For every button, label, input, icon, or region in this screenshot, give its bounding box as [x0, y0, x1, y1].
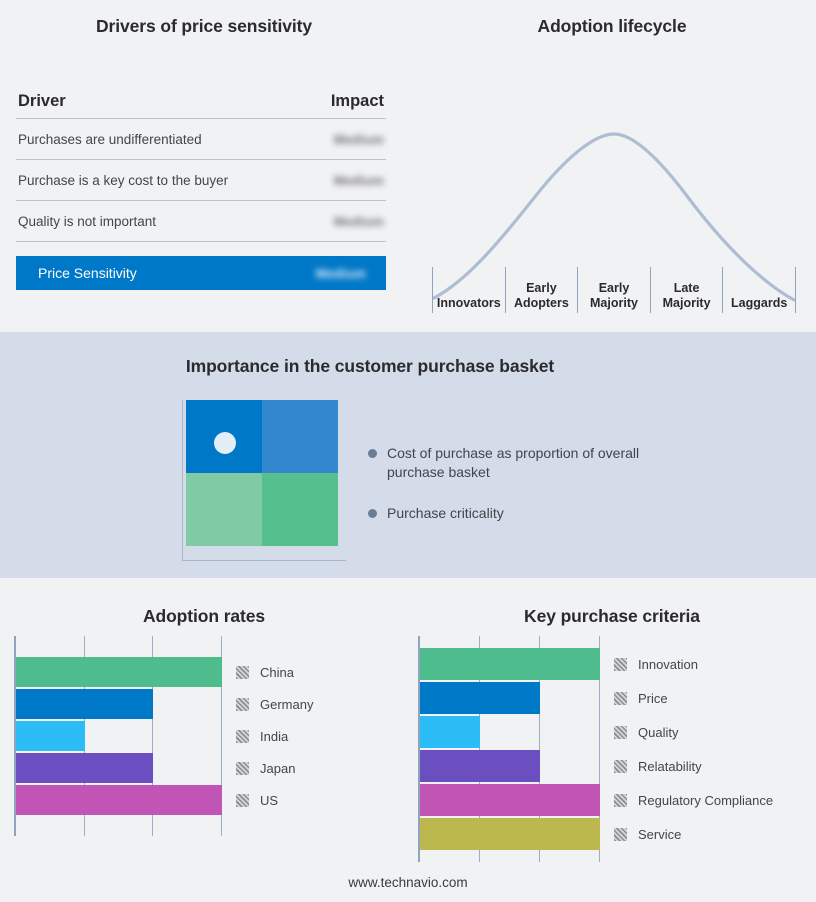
- key-purchase-criteria-chart: InnovationPriceQualityRelatabilityRegula…: [418, 636, 812, 862]
- legend-label: Service: [638, 827, 681, 842]
- key-purchase-criteria-legend: InnovationPriceQualityRelatabilityRegula…: [614, 636, 773, 862]
- importance-legend-label: Cost of purchase as proportion of overal…: [387, 444, 647, 482]
- bar: [16, 721, 85, 751]
- lifecycle-stage-label: Majority: [663, 296, 711, 311]
- lifecycle-stage-label: Early: [599, 281, 630, 296]
- quadrant-cell-bottom-right: [262, 473, 338, 546]
- purchase-basket-quadrant-chart: [178, 400, 356, 574]
- bar-row: [16, 785, 222, 815]
- quadrant-y-axis: [182, 400, 183, 560]
- hatched-swatch-icon: [614, 726, 627, 739]
- bar-group: [420, 636, 600, 862]
- importance-legend-label: Purchase criticality: [387, 504, 504, 523]
- adoption-rates-legend: ChinaGermanyIndiaJapanUS: [236, 636, 313, 836]
- lifecycle-stage-label: Innovators: [437, 296, 501, 311]
- driver-label: Purchases are undifferentiated: [18, 132, 202, 147]
- legend-label: Germany: [260, 697, 313, 712]
- table-row-highlighted-price-sensitivity: Price Sensitivity Medium: [16, 256, 386, 290]
- list-item: China: [236, 657, 313, 687]
- bar-group: [16, 636, 222, 836]
- lifecycle-stage-label: Adopters: [514, 296, 569, 311]
- adoption-rates-title: Adoption rates: [0, 606, 408, 627]
- adoption-rates-panel: Adoption rates ChinaGermanyIndiaJapanUS: [0, 578, 408, 902]
- lifecycle-stage-innovators: Innovators: [432, 267, 505, 313]
- impact-value: Medium: [334, 214, 384, 229]
- bar-row: [16, 689, 222, 719]
- column-header-driver: Driver: [18, 92, 66, 111]
- importance-purchase-basket-panel: Importance in the customer purchase bask…: [0, 332, 816, 578]
- quadrant-cell-top-right: [262, 400, 338, 473]
- table-row: Purchases are undifferentiated Medium: [16, 119, 386, 160]
- bar-row: [16, 753, 222, 783]
- quadrant-x-axis: [182, 560, 346, 561]
- drivers-table: Driver Impact Purchases are undifferenti…: [16, 92, 386, 290]
- importance-legend: Cost of purchase as proportion of overal…: [368, 444, 668, 545]
- legend-label: US: [260, 793, 278, 808]
- bar: [420, 818, 600, 850]
- lifecycle-stage-labels: Innovators Early Adopters Early Majority…: [432, 267, 796, 313]
- list-item: Regulatory Compliance: [614, 784, 773, 816]
- lifecycle-stage-label: Early: [526, 281, 557, 296]
- criteria-plot-area: [418, 636, 600, 862]
- lifecycle-panel-title: Adoption lifecycle: [408, 16, 816, 37]
- driver-label: Purchase is a key cost to the buyer: [18, 173, 228, 188]
- bar: [420, 648, 600, 680]
- bar: [420, 750, 540, 782]
- list-item: Price: [614, 682, 773, 714]
- legend-label: India: [260, 729, 288, 744]
- list-item: Purchase criticality: [368, 504, 668, 523]
- adoption-rates-chart: ChinaGermanyIndiaJapanUS: [14, 636, 394, 836]
- bar: [420, 682, 540, 714]
- hatched-swatch-icon: [236, 730, 249, 743]
- adoption-lifecycle-panel: Adoption lifecycle Innovators Early Adop…: [408, 0, 816, 332]
- legend-label: Quality: [638, 725, 678, 740]
- lifecycle-stage-early-adopters: Early Adopters: [505, 267, 578, 313]
- adoption-lifecycle-chart: Innovators Early Adopters Early Majority…: [432, 78, 796, 313]
- drivers-table-header: Driver Impact: [16, 92, 386, 119]
- legend-label: Japan: [260, 761, 295, 776]
- impact-value: Medium: [334, 173, 384, 188]
- legend-label: Relatability: [638, 759, 702, 774]
- key-purchase-criteria-title: Key purchase criteria: [408, 606, 816, 627]
- quadrant-grid: [186, 400, 338, 546]
- legend-label: Price: [638, 691, 668, 706]
- hatched-swatch-icon: [614, 828, 627, 841]
- drivers-panel-title: Drivers of price sensitivity: [0, 16, 408, 37]
- bullet-icon: [368, 449, 377, 458]
- importance-panel-title: Importance in the customer purchase bask…: [0, 356, 740, 377]
- list-item: Cost of purchase as proportion of overal…: [368, 444, 668, 482]
- hatched-swatch-icon: [614, 692, 627, 705]
- bar-row: [420, 648, 600, 680]
- list-item: US: [236, 785, 313, 815]
- hatched-swatch-icon: [614, 658, 627, 671]
- list-item: Quality: [614, 716, 773, 748]
- lifecycle-stage-early-majority: Early Majority: [577, 267, 650, 313]
- hatched-swatch-icon: [614, 794, 627, 807]
- lifecycle-stage-late-majority: Late Majority: [650, 267, 723, 313]
- legend-label: Innovation: [638, 657, 698, 672]
- hatched-swatch-icon: [236, 698, 249, 711]
- lifecycle-stage-label: Laggards: [731, 296, 787, 311]
- legend-label: Regulatory Compliance: [638, 793, 773, 808]
- hatched-swatch-icon: [614, 760, 627, 773]
- footer-url: www.technavio.com: [0, 875, 816, 890]
- list-item: Japan: [236, 753, 313, 783]
- driver-label: Price Sensitivity: [38, 265, 137, 281]
- column-header-impact: Impact: [331, 92, 384, 111]
- bar: [16, 753, 153, 783]
- bar: [16, 785, 222, 815]
- drivers-of-price-sensitivity-panel: Drivers of price sensitivity Driver Impa…: [0, 0, 408, 332]
- hatched-swatch-icon: [236, 762, 249, 775]
- lifecycle-stage-label: Majority: [590, 296, 638, 311]
- quadrant-cell-bottom-left: [186, 473, 262, 546]
- hatched-swatch-icon: [236, 794, 249, 807]
- table-row: Quality is not important Medium: [16, 201, 386, 242]
- quadrant-marker-dot: [214, 432, 236, 454]
- legend-label: China: [260, 665, 294, 680]
- bar-row: [420, 716, 600, 748]
- bar: [420, 784, 600, 816]
- bullet-icon: [368, 509, 377, 518]
- bar-row: [16, 721, 222, 751]
- list-item: Relatability: [614, 750, 773, 782]
- bar: [16, 689, 153, 719]
- bar-row: [420, 682, 600, 714]
- list-item: Germany: [236, 689, 313, 719]
- impact-value: Medium: [316, 266, 366, 281]
- list-item: India: [236, 721, 313, 751]
- lifecycle-stage-label: Late: [674, 281, 700, 296]
- adoption-plot-area: [14, 636, 222, 836]
- table-row: Purchase is a key cost to the buyer Medi…: [16, 160, 386, 201]
- list-item: Innovation: [614, 648, 773, 680]
- hatched-swatch-icon: [236, 666, 249, 679]
- bar-row: [420, 784, 600, 816]
- bar-row: [420, 750, 600, 782]
- bar-row: [420, 818, 600, 850]
- driver-label: Quality is not important: [18, 214, 156, 229]
- bar: [420, 716, 480, 748]
- bar-row: [16, 657, 222, 687]
- list-item: Service: [614, 818, 773, 850]
- key-purchase-criteria-panel: Key purchase criteria InnovationPriceQua…: [408, 578, 816, 902]
- impact-value: Medium: [334, 132, 384, 147]
- lifecycle-stage-laggards: Laggards: [722, 267, 796, 313]
- bar: [16, 657, 222, 687]
